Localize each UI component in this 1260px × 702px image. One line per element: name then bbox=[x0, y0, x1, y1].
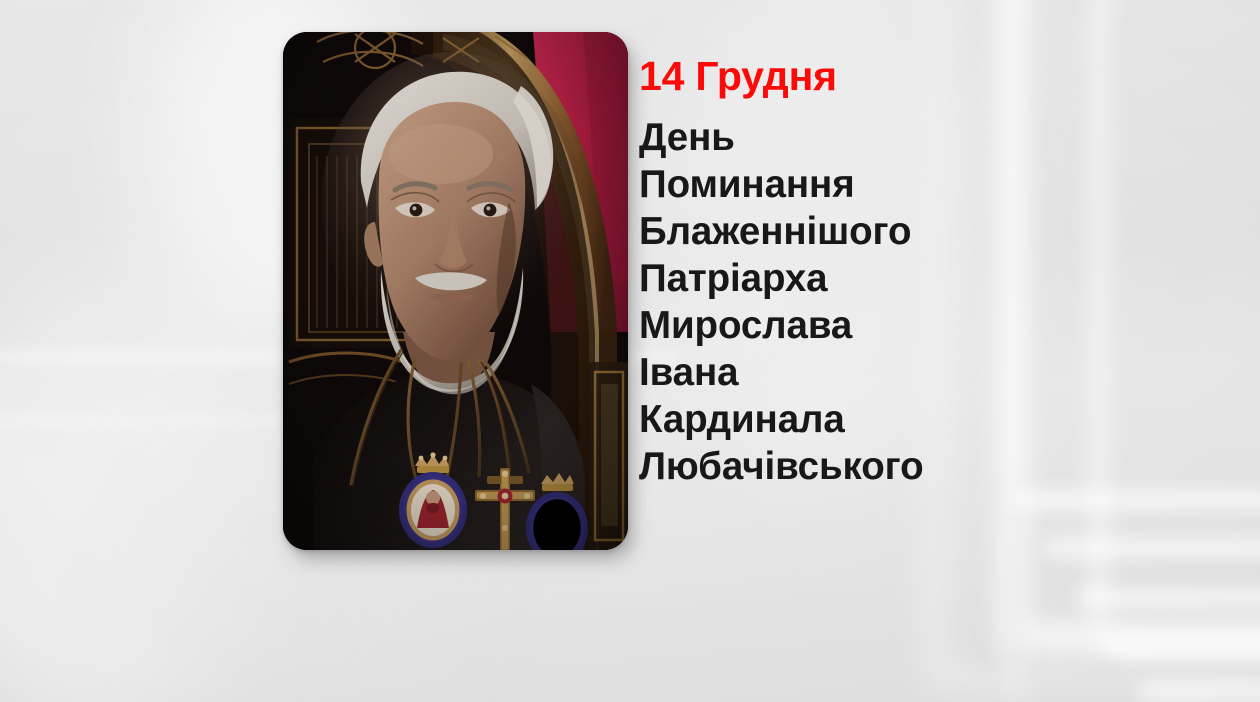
text-line: Блаженнішого bbox=[639, 208, 1159, 255]
commemoration-text: День Поминання Блаженнішого Патріарха Ми… bbox=[639, 114, 1159, 490]
text-line: Мирослава bbox=[639, 302, 1159, 349]
portrait-illustration bbox=[283, 32, 628, 550]
poster-canvas: 14 Грудня День Поминання Блаженнішого Па… bbox=[0, 0, 1260, 702]
text-line: Любачівського bbox=[639, 443, 1159, 490]
text-line: Поминання bbox=[639, 161, 1159, 208]
text-line: Патріарха bbox=[639, 255, 1159, 302]
poster-text-block: 14 Грудня День Поминання Блаженнішого Па… bbox=[639, 52, 1159, 490]
page-title: 14 Грудня bbox=[639, 52, 1159, 100]
text-line: День bbox=[639, 114, 1159, 161]
portrait-photo bbox=[283, 32, 628, 550]
text-line: Кардинала bbox=[639, 396, 1159, 443]
text-line: Івана bbox=[639, 349, 1159, 396]
